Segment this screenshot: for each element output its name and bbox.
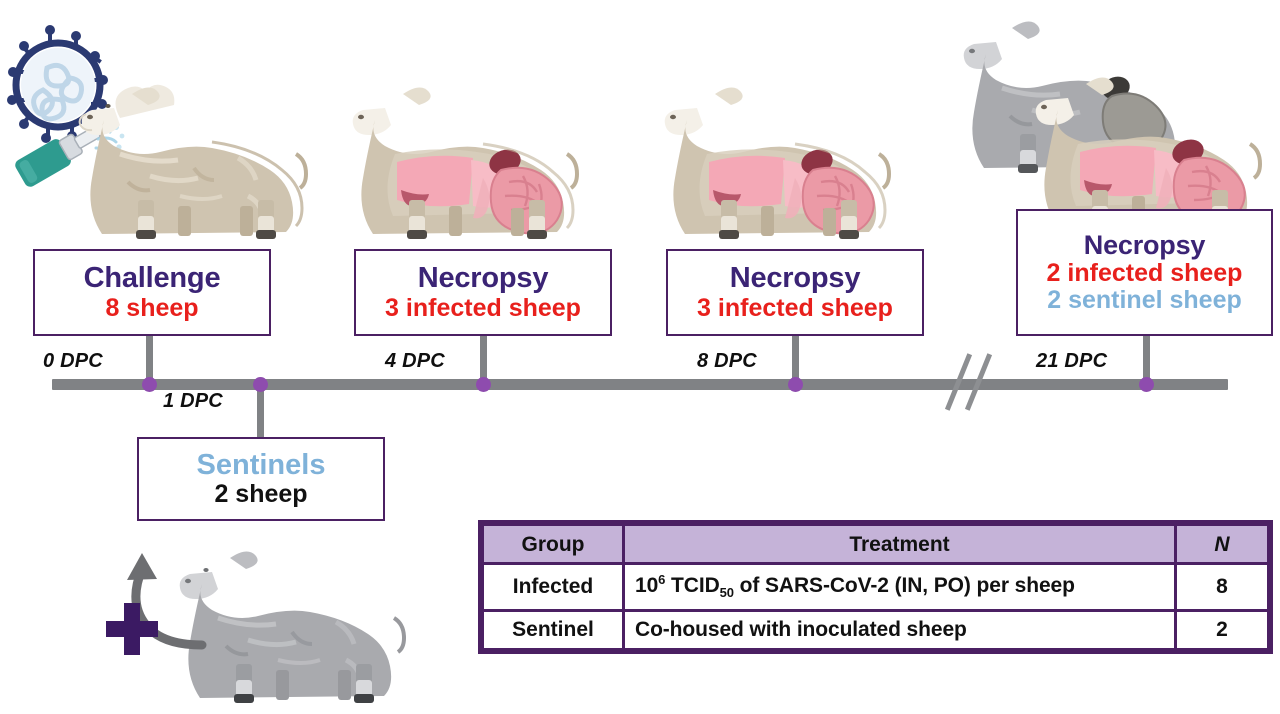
necropsy-4dpc-count: 3 infected sheep	[385, 295, 581, 322]
table-cell-group-infected: Infected	[483, 564, 624, 610]
necropsy-21dpc-box[interactable]: Necropsy 2 infected sheep 2 sentinel she…	[1016, 209, 1273, 336]
sheep-illustration-necropsy-4dpc	[333, 58, 583, 240]
table-header-n: N	[1176, 525, 1269, 564]
tick-label-1dpc: 1 DPC	[163, 390, 223, 413]
necropsy-4dpc-title: Necropsy	[418, 263, 549, 294]
tick-node-0dpc[interactable]	[142, 377, 157, 392]
sheep-illustration-challenge	[62, 58, 312, 240]
necropsy-8dpc-count: 3 infected sheep	[697, 295, 893, 322]
necropsy-21dpc-infected: 2 infected sheep	[1047, 260, 1243, 287]
table-cell-treatment-infected: 106 TCID50 of SARS-CoV-2 (IN, PO) per sh…	[624, 564, 1176, 610]
necropsy-8dpc-box[interactable]: Necropsy 3 infected sheep	[666, 249, 924, 336]
study-design-table: Group Treatment N Infected 106 TCID50 of…	[478, 520, 1273, 654]
figure-canvas: 0 DPC 1 DPC 4 DPC 8 DPC 21 DPC Challenge…	[0, 0, 1280, 714]
axis-break-icon	[948, 352, 994, 412]
table-header-row: Group Treatment N	[483, 525, 1269, 564]
table-row: Sentinel Co-housed with inoculated sheep…	[483, 610, 1269, 649]
challenge-box[interactable]: Challenge 8 sheep	[33, 249, 271, 336]
table-cell-treatment-sentinel: Co-housed with inoculated sheep	[624, 610, 1176, 649]
treatment-prefix: 10	[635, 574, 658, 597]
necropsy-4dpc-box[interactable]: Necropsy 3 infected sheep	[354, 249, 612, 336]
table-cell-group-sentinel: Sentinel	[483, 610, 624, 649]
plus-icon	[106, 603, 158, 655]
timeline-axis	[52, 379, 1228, 390]
tick-label-8dpc: 8 DPC	[697, 350, 757, 373]
sentinels-box-count: 2 sheep	[214, 481, 307, 508]
necropsy-8dpc-title: Necropsy	[730, 263, 861, 294]
table-row: Infected 106 TCID50 of SARS-CoV-2 (IN, P…	[483, 564, 1269, 610]
treatment-rest: of SARS-CoV-2 (IN, PO) per sheep	[734, 574, 1075, 597]
tick-label-0dpc: 0 DPC	[43, 350, 103, 373]
tick-node-4dpc[interactable]	[476, 377, 491, 392]
tick-node-21dpc[interactable]	[1139, 377, 1154, 392]
necropsy-21dpc-sentinel: 2 sentinel sheep	[1047, 287, 1242, 314]
necropsy-21dpc-title: Necropsy	[1084, 231, 1205, 260]
tick-node-1dpc[interactable]	[253, 377, 268, 392]
sentinels-box[interactable]: Sentinels 2 sheep	[137, 437, 385, 521]
treatment-subscript: 50	[720, 585, 734, 600]
tick-node-8dpc[interactable]	[788, 377, 803, 392]
table-cell-n-sentinel: 2	[1176, 610, 1269, 649]
table-header-group: Group	[483, 525, 624, 564]
tick-label-21dpc: 21 DPC	[1036, 350, 1107, 373]
table-cell-n-infected: 8	[1176, 564, 1269, 610]
challenge-box-title: Challenge	[84, 263, 221, 294]
sheep-illustration-necropsy-8dpc	[645, 58, 895, 240]
challenge-box-count: 8 sheep	[105, 295, 198, 322]
sheep-pair-illustration-necropsy-21dpc	[946, 2, 1266, 218]
connector-1dpc	[257, 384, 264, 442]
tick-label-4dpc: 4 DPC	[385, 350, 445, 373]
table-header-treatment: Treatment	[624, 525, 1176, 564]
treatment-mid: TCID	[665, 574, 719, 597]
sentinels-box-title: Sentinels	[197, 450, 326, 481]
